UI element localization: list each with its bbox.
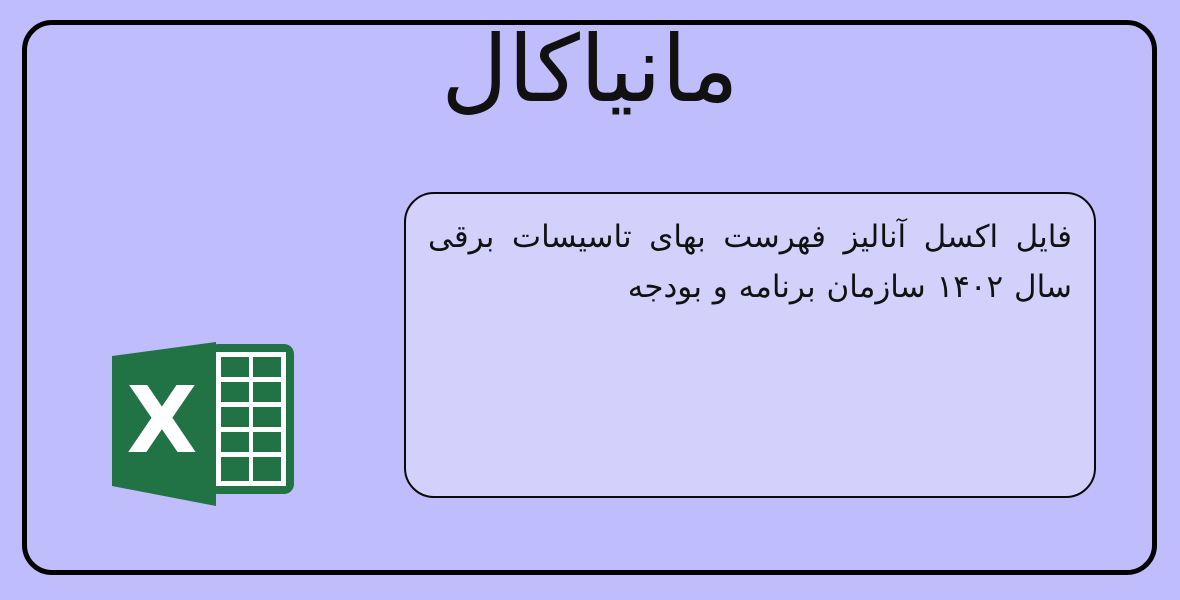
page-title: مانیاکال <box>0 24 1180 116</box>
excel-icon-grid-panel <box>208 344 294 494</box>
description-panel: فایل اکسل آنالیز فهرست بهای تاسیسات برقی… <box>404 192 1096 498</box>
excel-file-icon: X <box>104 334 304 520</box>
page-root: مانیاکال X <box>0 0 1180 600</box>
excel-icon-x-panel: X <box>112 342 216 506</box>
svg-text:X: X <box>127 367 198 474</box>
description-text: فایل اکسل آنالیز فهرست بهای تاسیسات برقی… <box>428 212 1072 312</box>
